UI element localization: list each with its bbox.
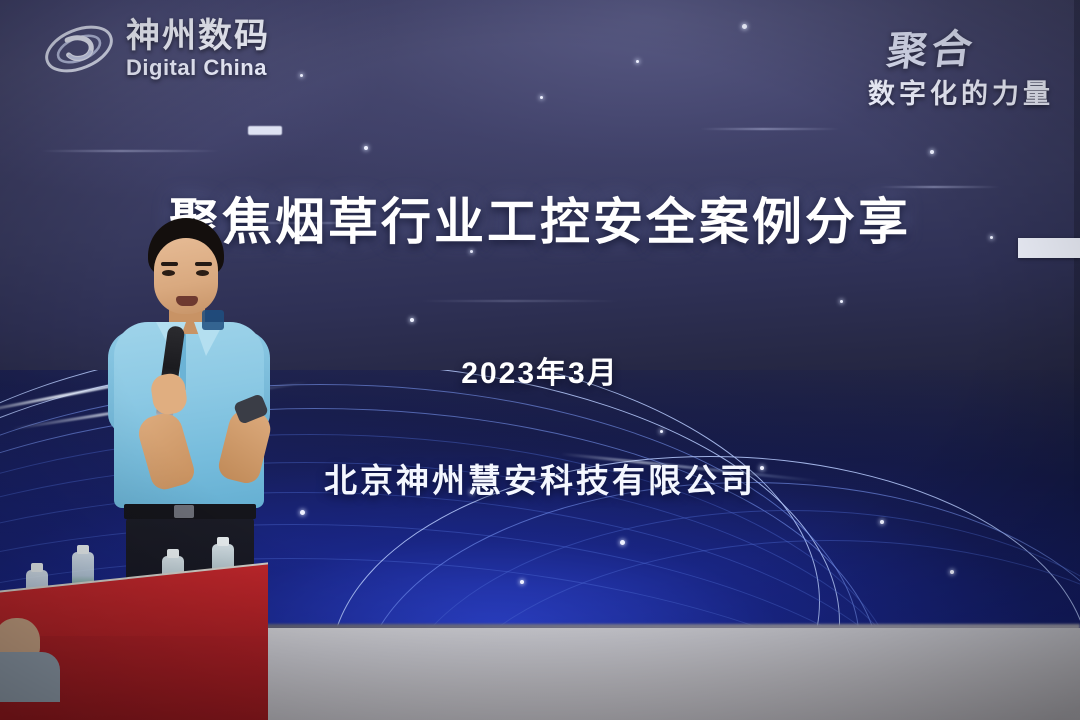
particle-dot <box>364 146 368 150</box>
speaker-mouth <box>176 296 198 306</box>
event-slogan-calligraphy: 聚合 <box>864 16 980 78</box>
event-slogan-subtitle: 数字化的力量 <box>868 72 1054 111</box>
speaker-belt-buckle <box>174 505 194 518</box>
brand-name-cn: 神州数码 <box>126 19 270 53</box>
speaker-eyebrow-left <box>161 262 178 266</box>
bottle-cap <box>31 563 43 572</box>
particle-dot <box>880 520 884 524</box>
speaker-eye-right <box>196 270 209 276</box>
audience-member-body <box>0 652 60 702</box>
particle-dot <box>660 430 663 433</box>
speaker-eye-left <box>162 270 175 276</box>
particle-dot <box>742 24 747 29</box>
particle-dot <box>950 570 954 574</box>
particle-dot <box>636 60 639 63</box>
backdrop-streak <box>420 300 620 302</box>
bottle-cap <box>167 549 179 558</box>
event-slogan: 聚合 数字化的力量 <box>868 18 1054 111</box>
backdrop-streak <box>40 150 220 152</box>
particle-dot <box>410 318 414 322</box>
brand-logo: 神州数码 Digital China <box>42 18 270 80</box>
backdrop-streak <box>700 128 840 130</box>
particle-dot <box>520 580 524 584</box>
digital-china-swirl-logo-icon <box>42 18 116 80</box>
particle-dot <box>300 74 303 77</box>
speaker-chest-logo-patch <box>202 310 224 330</box>
particle-dot <box>540 96 543 99</box>
brand-name-en: Digital China <box>126 57 270 79</box>
backdrop-light-bar-left <box>248 126 282 135</box>
particle-dot <box>840 300 843 303</box>
particle-dot <box>300 510 305 515</box>
stage-photo: 神州数码 Digital China 聚合 数字化的力量 聚焦烟草行业工控安全案… <box>0 0 1080 720</box>
brand-logo-words: 神州数码 Digital China <box>126 19 270 79</box>
speaker-eyebrow-right <box>195 262 212 266</box>
bottle-cap <box>77 545 89 554</box>
particle-dot <box>930 150 934 154</box>
particle-dot <box>620 540 625 545</box>
bottle-cap <box>217 537 229 546</box>
